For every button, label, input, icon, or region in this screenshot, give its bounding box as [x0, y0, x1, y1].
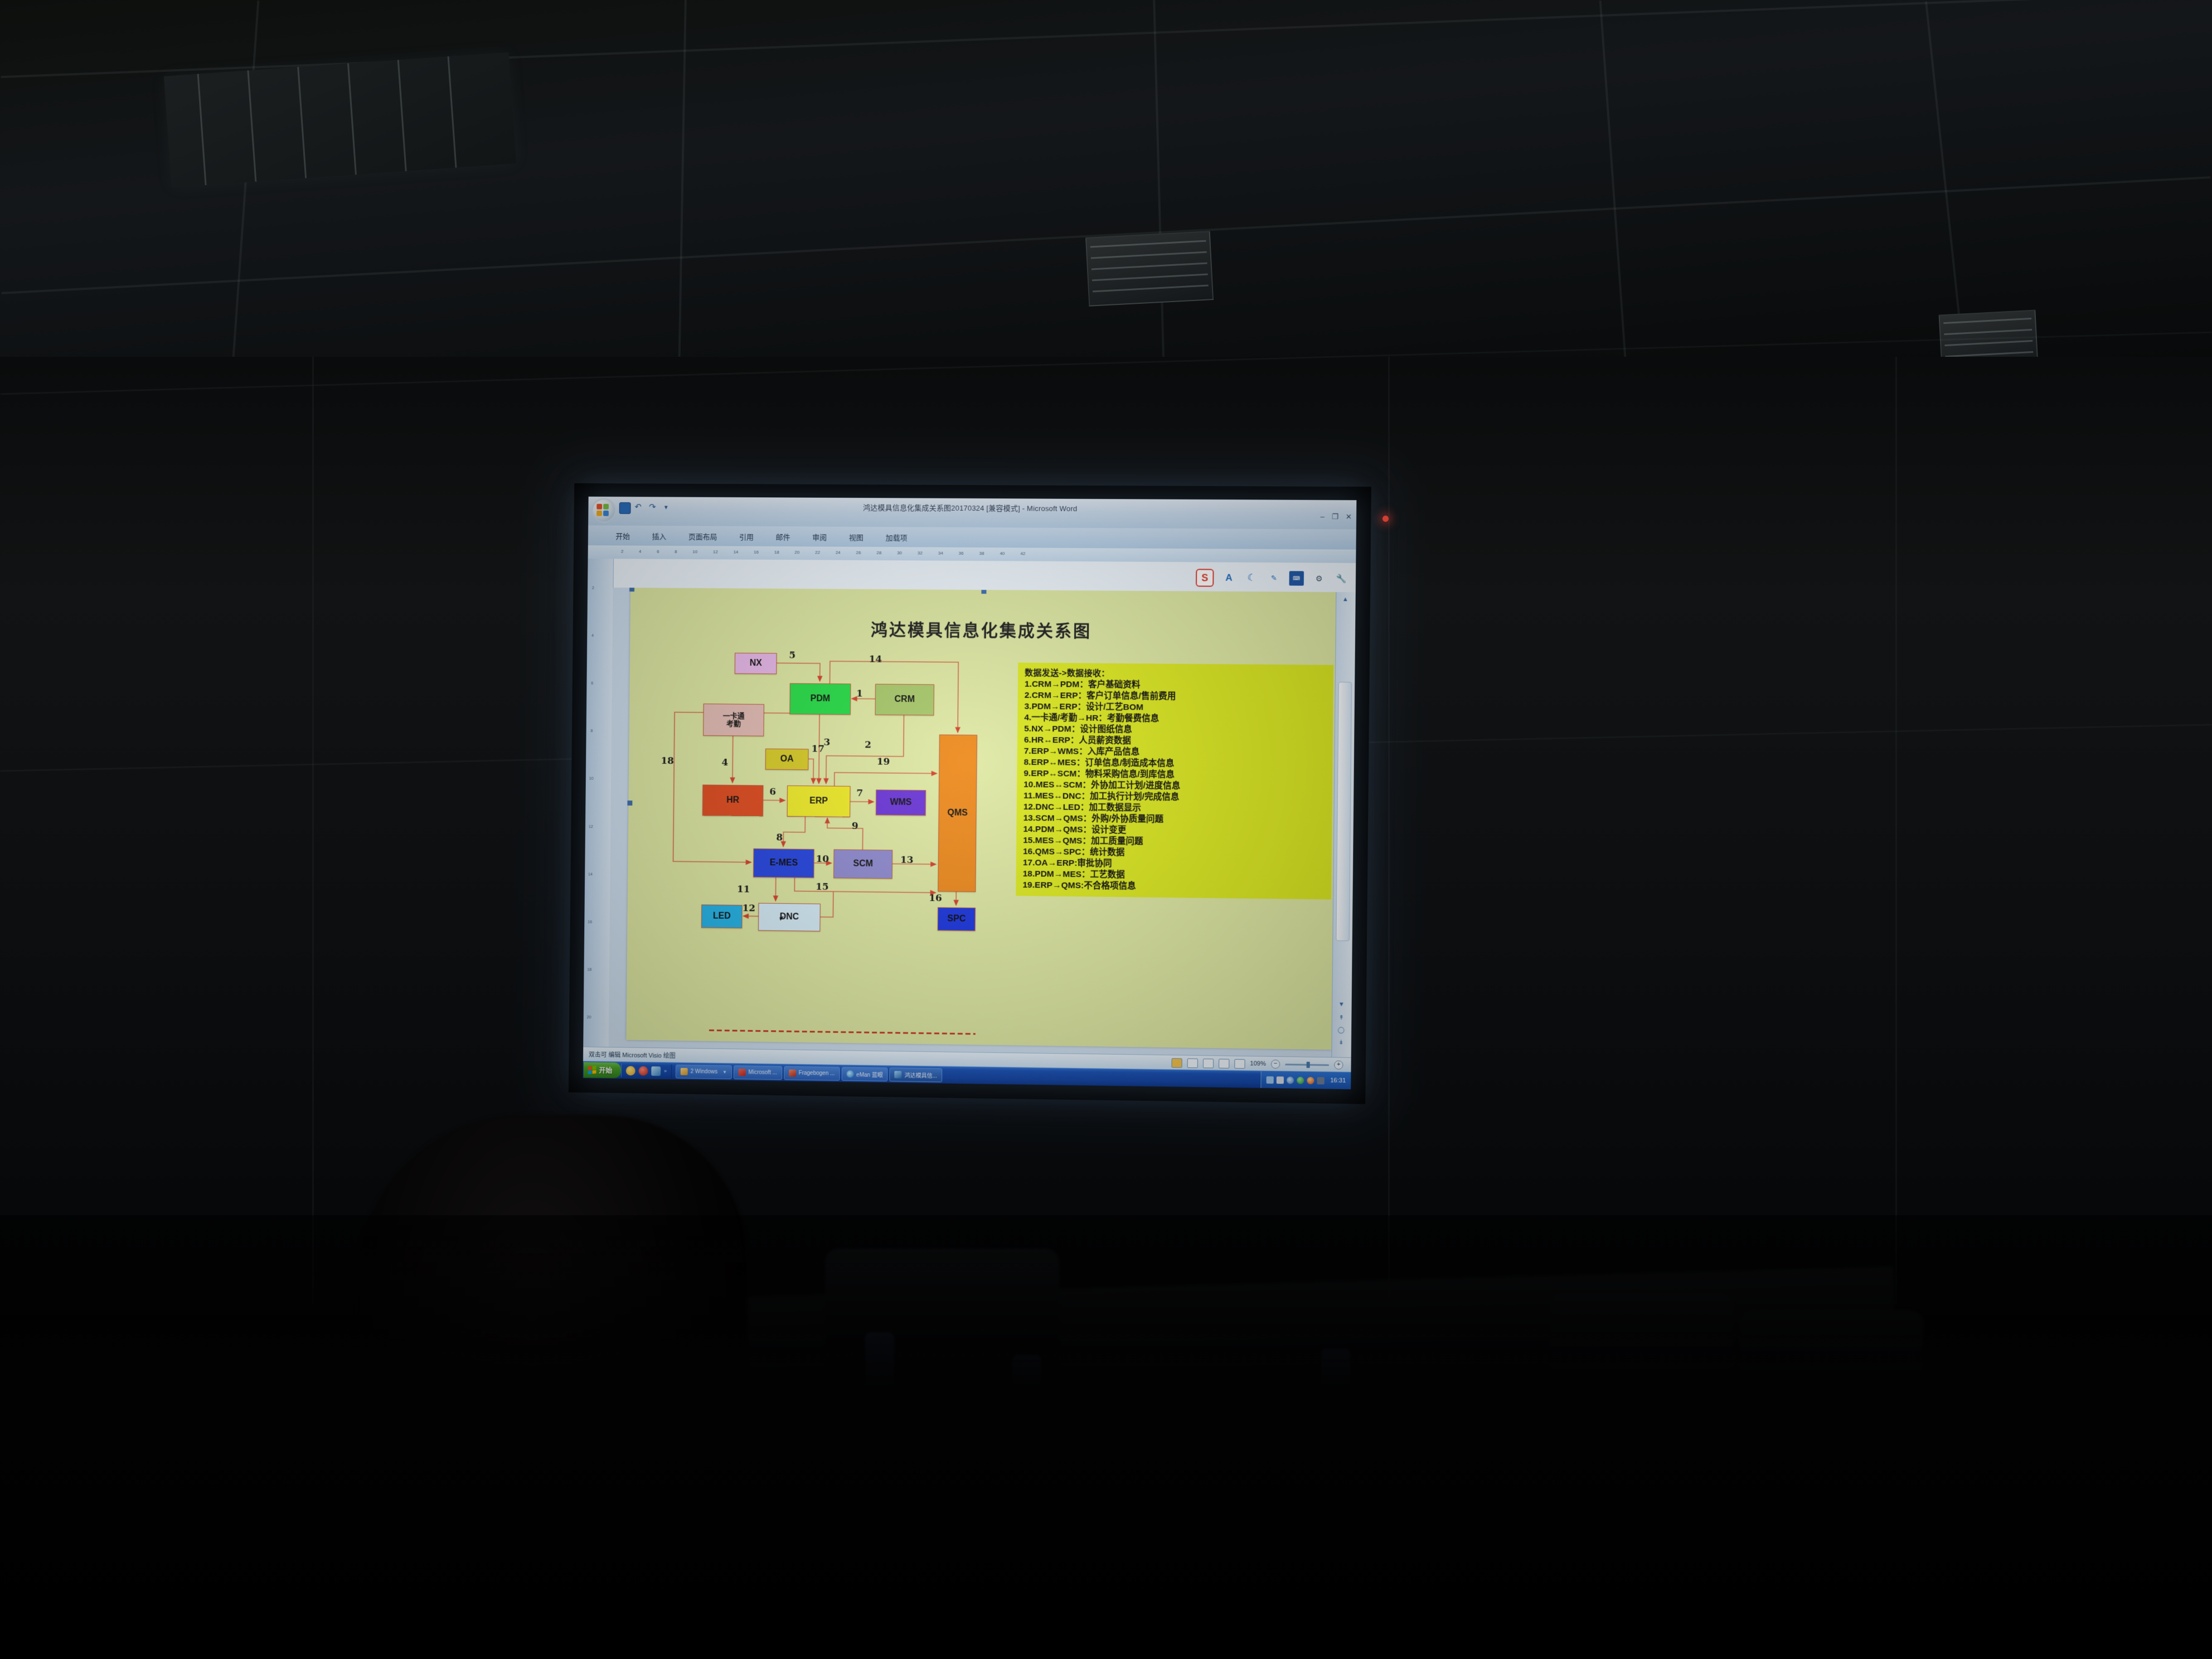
ruler-tick: 40: [1000, 551, 1005, 556]
zoom-out-button[interactable]: −: [1271, 1060, 1280, 1069]
ruler-tick: 16: [754, 550, 759, 555]
ruler-tick: 20: [794, 550, 799, 555]
edge-label-18: 18: [661, 755, 674, 767]
ribbon-tabs: 开始 插入 页面布局 引用 邮件 审阅 视图 加载项: [612, 530, 910, 544]
node-HR[interactable]: HR: [702, 784, 764, 816]
ruler-tick: 6: [657, 549, 659, 554]
edge-label-17: 17: [811, 744, 824, 755]
restore-button[interactable]: ❐: [1332, 512, 1338, 521]
window-controls[interactable]: – ❐ ✕: [1320, 512, 1352, 521]
select-browse-object-button[interactable]: ◯: [1336, 1025, 1346, 1035]
media-player-icon[interactable]: [639, 1066, 648, 1075]
document-page[interactable]: 鸿达模具信息化集成关系图: [626, 588, 1336, 1050]
edge-label-13: 13: [900, 855, 914, 866]
document-canvas[interactable]: 鸿达模具信息化集成关系图: [609, 588, 1356, 1058]
tab-addins[interactable]: 加载项: [882, 531, 911, 544]
visio-diagram[interactable]: 鸿达模具信息化集成关系图: [626, 588, 1336, 1050]
diagram-legend: 数据发送->数据接收： 1.CRM→PDM：客户基础资料 2.CRM→ERP：客…: [1016, 663, 1333, 899]
ruler-tick: 28: [876, 550, 881, 555]
tab-insert[interactable]: 插入: [649, 530, 670, 542]
outline-icon[interactable]: [1219, 1059, 1229, 1068]
status-right-group: 109% − +: [1171, 1058, 1343, 1070]
browser-icon[interactable]: [651, 1066, 661, 1075]
edge-label-9: 9: [852, 821, 858, 832]
ruler-tick: 32: [918, 550, 923, 555]
chevron-down-icon[interactable]: ▼: [722, 1069, 727, 1074]
edge-label-1: 1: [856, 688, 863, 699]
taskbar-button-hongda[interactable]: 鸿达模具信...: [890, 1068, 942, 1082]
next-page-button[interactable]: ↡: [1336, 1037, 1346, 1047]
edge-label-5: 5: [789, 650, 795, 661]
ceiling-light-fixture: [164, 52, 516, 188]
window-titlebar: ↶ ↷ ▼ 鸿达模具信息化集成关系图20170324 [兼容模式] - Micr…: [588, 497, 1356, 530]
tab-layout[interactable]: 页面布局: [685, 530, 721, 542]
moon-icon[interactable]: ☾: [1244, 571, 1259, 585]
start-button-label: 开始: [599, 1065, 612, 1075]
node-E-MES[interactable]: E-MES: [753, 848, 814, 878]
ruler-tick: 22: [815, 550, 820, 555]
edge-label-2: 2: [865, 739, 871, 750]
edge-label-4: 4: [721, 757, 728, 768]
foreground-shadow: [0, 1215, 2212, 1659]
edge-label-15: 15: [816, 881, 829, 892]
ruler-tick: 24: [836, 550, 841, 555]
zoom-level-label: 109%: [1250, 1060, 1266, 1067]
vertical-scrollbar[interactable]: ▲ ▼ ↟ ◯ ↡: [1331, 592, 1355, 1058]
volume-icon[interactable]: [1277, 1076, 1284, 1083]
ruler-tick: 38: [979, 551, 984, 556]
tab-review[interactable]: 审阅: [809, 531, 830, 544]
edge-label-7: 7: [856, 788, 863, 799]
window-title: 鸿达模具信息化集成关系图20170324 [兼容模式] - Microsoft …: [588, 501, 1356, 515]
edge-label-11: 11: [737, 884, 750, 895]
web-layout-icon[interactable]: [1203, 1058, 1214, 1068]
legend-header: 数据发送->数据接收：: [1025, 667, 1328, 681]
scroll-down-button[interactable]: ▼: [1336, 1000, 1346, 1010]
keyboard-icon[interactable]: ⌨: [1289, 571, 1304, 585]
ruler-tick: 10: [692, 549, 697, 554]
ruler-tick: 34: [938, 551, 943, 556]
node-WMS[interactable]: WMS: [876, 789, 926, 816]
tab-home[interactable]: 开始: [612, 530, 633, 542]
vruler-tick: 2: [592, 586, 594, 590]
node-ERP[interactable]: ERP: [787, 785, 851, 817]
print-layout-icon[interactable]: [1171, 1058, 1182, 1068]
quick-launch-bar[interactable]: »: [621, 1064, 672, 1078]
conference-room: ↶ ↷ ▼ 鸿达模具信息化集成关系图20170324 [兼容模式] - Micr…: [0, 0, 2212, 1659]
node-SCM[interactable]: SCM: [833, 849, 892, 879]
taskbar-button-label: eMan 蓝眼: [856, 1070, 883, 1079]
font-A-icon[interactable]: A: [1221, 571, 1236, 585]
vruler-tick: 14: [588, 872, 593, 876]
sogou-logo-icon[interactable]: S: [1196, 569, 1214, 586]
vruler-tick: 8: [591, 729, 593, 733]
minimize-button[interactable]: –: [1320, 512, 1324, 521]
monitor-icon[interactable]: [1317, 1077, 1325, 1084]
flame-icon[interactable]: [1307, 1076, 1314, 1084]
pdf-icon: [789, 1069, 796, 1076]
node-SPC[interactable]: SPC: [938, 907, 976, 931]
edge-label-12: 12: [743, 903, 756, 914]
toolbox-icon[interactable]: ⚙: [1312, 571, 1327, 586]
word-window: ↶ ↷ ▼ 鸿达模具信息化集成关系图20170324 [兼容模式] - Micr…: [583, 497, 1357, 1089]
taskbar-button-label: 2 Windows: [691, 1068, 718, 1075]
ruler-tick: 8: [675, 549, 677, 554]
vruler-tick: 18: [588, 968, 592, 972]
revision-underline: [709, 1030, 976, 1035]
diagram-nodes: NX PDM CRM 一卡通 考勤 OA HR ERP WMS QMS E-ME…: [667, 648, 1036, 963]
ruler-tick: 12: [713, 549, 718, 554]
edge-label-6: 6: [769, 787, 776, 798]
status-led: [1382, 516, 1389, 522]
system-tray[interactable]: 16:31: [1261, 1071, 1351, 1089]
status-hint-text: 双击可 编辑 Microsoft Visio 绘图: [589, 1050, 676, 1060]
ruler-tick: 36: [959, 551, 964, 556]
close-button[interactable]: ✕: [1346, 512, 1352, 521]
network-icon[interactable]: [1267, 1076, 1274, 1083]
pen-icon[interactable]: ✎: [1267, 571, 1282, 585]
taskbar-button-windows[interactable]: 2 Windows ▼: [676, 1064, 732, 1079]
edge-label-16: 16: [929, 892, 942, 904]
vertical-ruler-marks: 2 4 6 8 10 12 14 16 18 20: [584, 564, 598, 1042]
taskbar-button-label: 鸿达模具信...: [905, 1070, 937, 1079]
visio-icon: [895, 1071, 902, 1078]
zoom-in-button[interactable]: +: [1334, 1060, 1343, 1069]
tab-mailings[interactable]: 邮件: [773, 530, 794, 543]
ruler-tick: 2: [621, 549, 623, 554]
ruler-tick: 42: [1020, 551, 1025, 556]
scroll-up-button[interactable]: ▲: [1340, 594, 1350, 604]
vruler-tick: 4: [591, 634, 594, 638]
edge-label-8: 8: [776, 832, 783, 843]
quick-launch-overflow-icon[interactable]: »: [664, 1068, 667, 1074]
ruler-tick: 14: [733, 550, 738, 555]
edge-label-3: 3: [823, 737, 830, 748]
shield-icon[interactable]: [1297, 1076, 1304, 1084]
air-vent: [1085, 231, 1214, 307]
sogou-ime-toolbar[interactable]: S A ☾ ✎ ⌨ ⚙ 🔧: [1196, 569, 1349, 588]
vertical-scroll-thumb[interactable]: [1336, 682, 1352, 941]
node-LED[interactable]: LED: [701, 905, 743, 929]
folder-icon: [681, 1068, 688, 1075]
show-desktop-icon[interactable]: [626, 1066, 636, 1075]
edge-label-19: 19: [877, 756, 890, 768]
node-NX[interactable]: NX: [735, 653, 777, 674]
taskbar-button-label: Microsoft ...: [749, 1069, 777, 1076]
node-OA[interactable]: OA: [765, 749, 809, 770]
previous-page-button[interactable]: ↟: [1336, 1013, 1346, 1023]
projection-screen: ↶ ↷ ▼ 鸿达模具信息化集成关系图20170324 [兼容模式] - Micr…: [569, 483, 1371, 1104]
ruler-tick: 4: [639, 549, 641, 554]
taskbar-button-eman[interactable]: eMan 蓝眼: [841, 1066, 888, 1081]
node-QMS[interactable]: QMS: [938, 735, 977, 892]
edge-label-14: 14: [869, 654, 882, 665]
ruler-tick: 26: [856, 550, 861, 555]
ruler-marks: 2 4 6 8 10 12 14 16 18 20 22 24 26 28 30…: [621, 549, 1026, 556]
taskbar-button-label: Fragebogen ...: [799, 1070, 835, 1076]
vruler-tick: 10: [589, 777, 594, 781]
tab-references[interactable]: 引用: [736, 530, 757, 543]
edge-icon: [846, 1070, 853, 1077]
start-button[interactable]: 开始: [584, 1062, 621, 1078]
taskbar-button-microsoft[interactable]: Microsoft ...: [734, 1065, 782, 1080]
node-CRM[interactable]: CRM: [875, 684, 934, 716]
vruler-tick: 6: [591, 682, 593, 686]
ruler-tick: 30: [897, 550, 902, 555]
zoom-slider[interactable]: [1285, 1064, 1329, 1066]
node-card-attendance[interactable]: 一卡通 考勤: [703, 704, 764, 736]
diagram-title: 鸿达模具信息化集成关系图: [630, 614, 1336, 644]
vruler-tick: 20: [587, 1016, 591, 1020]
taskbar-button-fragebogen[interactable]: Fragebogen ...: [784, 1066, 840, 1080]
vruler-tick: 16: [588, 920, 592, 924]
edge-label-10: 10: [816, 853, 829, 865]
projected-desktop: ↶ ↷ ▼ 鸿达模具信息化集成关系图20170324 [兼容模式] - Micr…: [583, 497, 1357, 1089]
node-DNC[interactable]: DNC: [758, 903, 821, 932]
node-PDM[interactable]: PDM: [789, 683, 851, 715]
taskbar-clock[interactable]: 16:31: [1330, 1077, 1346, 1084]
draft-icon[interactable]: [1234, 1059, 1245, 1068]
wrench-icon[interactable]: 🔧: [1334, 571, 1349, 586]
word-icon: [739, 1069, 746, 1076]
sync-icon[interactable]: [1287, 1076, 1294, 1084]
tab-view[interactable]: 视图: [846, 531, 867, 544]
full-screen-icon[interactable]: [1187, 1058, 1197, 1068]
windows-flag-icon: [588, 1066, 596, 1074]
ruler-tick: 18: [774, 550, 779, 555]
vruler-tick: 12: [589, 825, 593, 829]
